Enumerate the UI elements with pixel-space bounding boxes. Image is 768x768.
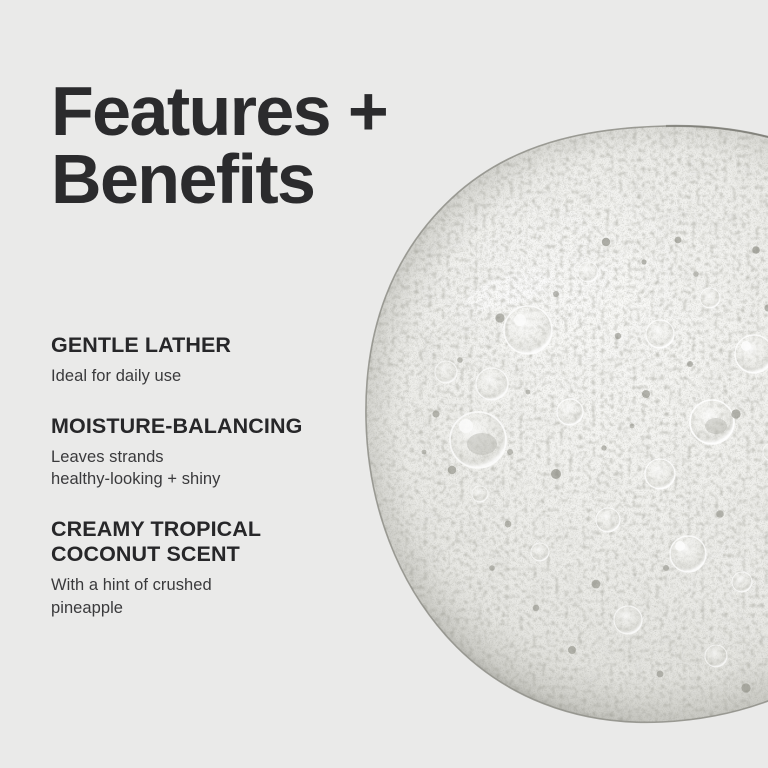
feature-title-line: COCONUT SCENT [51, 542, 351, 567]
feature-description-line: healthy-looking + shiny [51, 468, 351, 490]
gel-rim-shading [360, 122, 768, 734]
feature-title-line: MOISTURE-BALANCING [51, 414, 351, 439]
gel-droplet-image [360, 122, 768, 734]
feature-description-line: Leaves strands [51, 446, 351, 468]
gel-outline-stroke [366, 126, 768, 722]
gel-highlight-lower-right [650, 502, 768, 682]
feature-description-line: With a hint of crushed [51, 574, 351, 596]
page-title-line-2: Benefits [51, 146, 451, 214]
gel-droplet-svg [360, 122, 768, 734]
gel-bubbles [435, 262, 768, 667]
gel-mottle-texture [360, 122, 768, 734]
feature-item-moisture-balancing: MOISTURE-BALANCING Leaves strands health… [51, 414, 351, 491]
feature-description-line: Ideal for daily use [51, 365, 351, 387]
feature-title-line: CREAMY TROPICAL [51, 517, 351, 542]
gel-specular-streak [462, 262, 559, 319]
feature-description: Ideal for daily use [51, 365, 351, 387]
feature-title-line: GENTLE LATHER [51, 333, 351, 358]
feature-item-coconut-scent: CREAMY TROPICAL COCONUT SCENT With a hin… [51, 517, 351, 619]
feature-list: GENTLE LATHER Ideal for daily use MOISTU… [51, 333, 351, 619]
gel-top-edge-accent [666, 126, 768, 408]
feature-description: With a hint of crushed pineapple [51, 574, 351, 619]
feature-title: CREAMY TROPICAL COCONUT SCENT [51, 517, 351, 568]
gel-suspended-particles [422, 237, 768, 693]
product-feature-poster: Features + Benefits GENTLE LATHER Ideal … [0, 0, 768, 768]
feature-description-line: pineapple [51, 597, 351, 619]
gel-particle-clumps [360, 122, 768, 734]
feature-description: Leaves strands healthy-looking + shiny [51, 446, 351, 491]
gel-fine-grain [360, 122, 768, 734]
feature-item-gentle-lather: GENTLE LATHER Ideal for daily use [51, 333, 351, 388]
feature-title: MOISTURE-BALANCING [51, 414, 351, 439]
gel-base-fill [360, 122, 768, 734]
feature-title: GENTLE LATHER [51, 333, 351, 358]
page-title: Features + Benefits [51, 78, 451, 214]
gel-body [360, 122, 768, 734]
page-title-line-1: Features + [51, 78, 451, 146]
